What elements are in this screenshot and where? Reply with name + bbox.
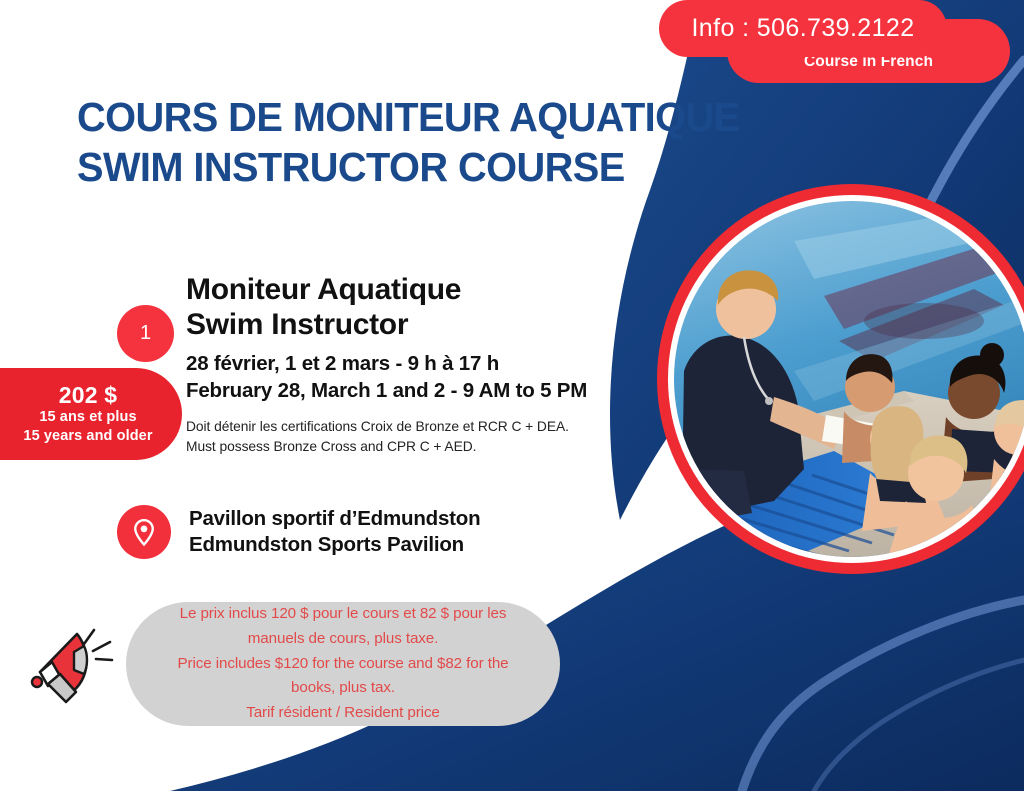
course-prereq-fr: Doit détenir les certifications Croix de… bbox=[186, 417, 636, 437]
accent-arc-bottom bbox=[742, 600, 1024, 791]
title-line-en: SWIM INSTRUCTOR COURSE bbox=[77, 142, 740, 192]
price-info-line: Tarif résident / Resident price bbox=[246, 701, 440, 726]
contact-info-badge[interactable]: Info : 506.739.2122 bbox=[659, 0, 947, 57]
photo-image-clip bbox=[674, 201, 1024, 557]
price-age-fr: 15 ans et plus bbox=[39, 408, 136, 427]
price-amount: 202 $ bbox=[59, 382, 118, 408]
poster-canvas: Cours en français Course in French COURS… bbox=[0, 0, 1024, 791]
price-info-line: books, plus tax. bbox=[291, 676, 395, 701]
course-number-badge: 1 bbox=[117, 305, 174, 362]
course-date-en: February 28, March 1 and 2 - 9 AM to 5 P… bbox=[186, 377, 636, 404]
location-name-fr: Pavillon sportif d’Edmundston bbox=[189, 506, 480, 532]
course-date-fr: 28 février, 1 et 2 mars - 9 h à 17 h bbox=[186, 350, 636, 377]
course-prereq-en: Must possess Bronze Cross and CPR C + AE… bbox=[186, 437, 636, 457]
location-name-en: Edmundston Sports Pavilion bbox=[189, 532, 480, 558]
photo-illustration bbox=[674, 201, 1024, 557]
price-badge: 202 $ 15 ans et plus 15 years and older bbox=[0, 368, 182, 460]
course-photo bbox=[657, 184, 1024, 574]
price-info-line: Le prix inclus 120 $ pour le cours et 82… bbox=[180, 602, 507, 627]
price-info-box: Le prix inclus 120 $ pour le cours et 82… bbox=[126, 602, 560, 726]
course-details: Moniteur Aquatique Swim Instructor 28 fé… bbox=[186, 272, 636, 457]
location-row: Pavillon sportif d’Edmundston Edmundston… bbox=[117, 505, 480, 559]
page-title: COURS DE MONITEUR AQUATIQUE SWIM INSTRUC… bbox=[77, 92, 760, 193]
title-line-fr: COURS DE MONITEUR AQUATIQUE bbox=[77, 92, 740, 142]
map-pin-icon bbox=[117, 505, 171, 559]
course-name-en: Swim Instructor bbox=[186, 307, 636, 342]
price-info-line: manuels de cours, plus taxe. bbox=[248, 627, 439, 652]
megaphone-icon bbox=[22, 612, 126, 716]
course-name-fr: Moniteur Aquatique bbox=[186, 272, 636, 307]
price-info-line: Price includes $120 for the course and $… bbox=[177, 652, 508, 677]
price-age-en: 15 years and older bbox=[23, 427, 152, 446]
location-text: Pavillon sportif d’Edmundston Edmundston… bbox=[189, 506, 480, 558]
accent-arc-bottom-2 bbox=[814, 660, 1024, 791]
